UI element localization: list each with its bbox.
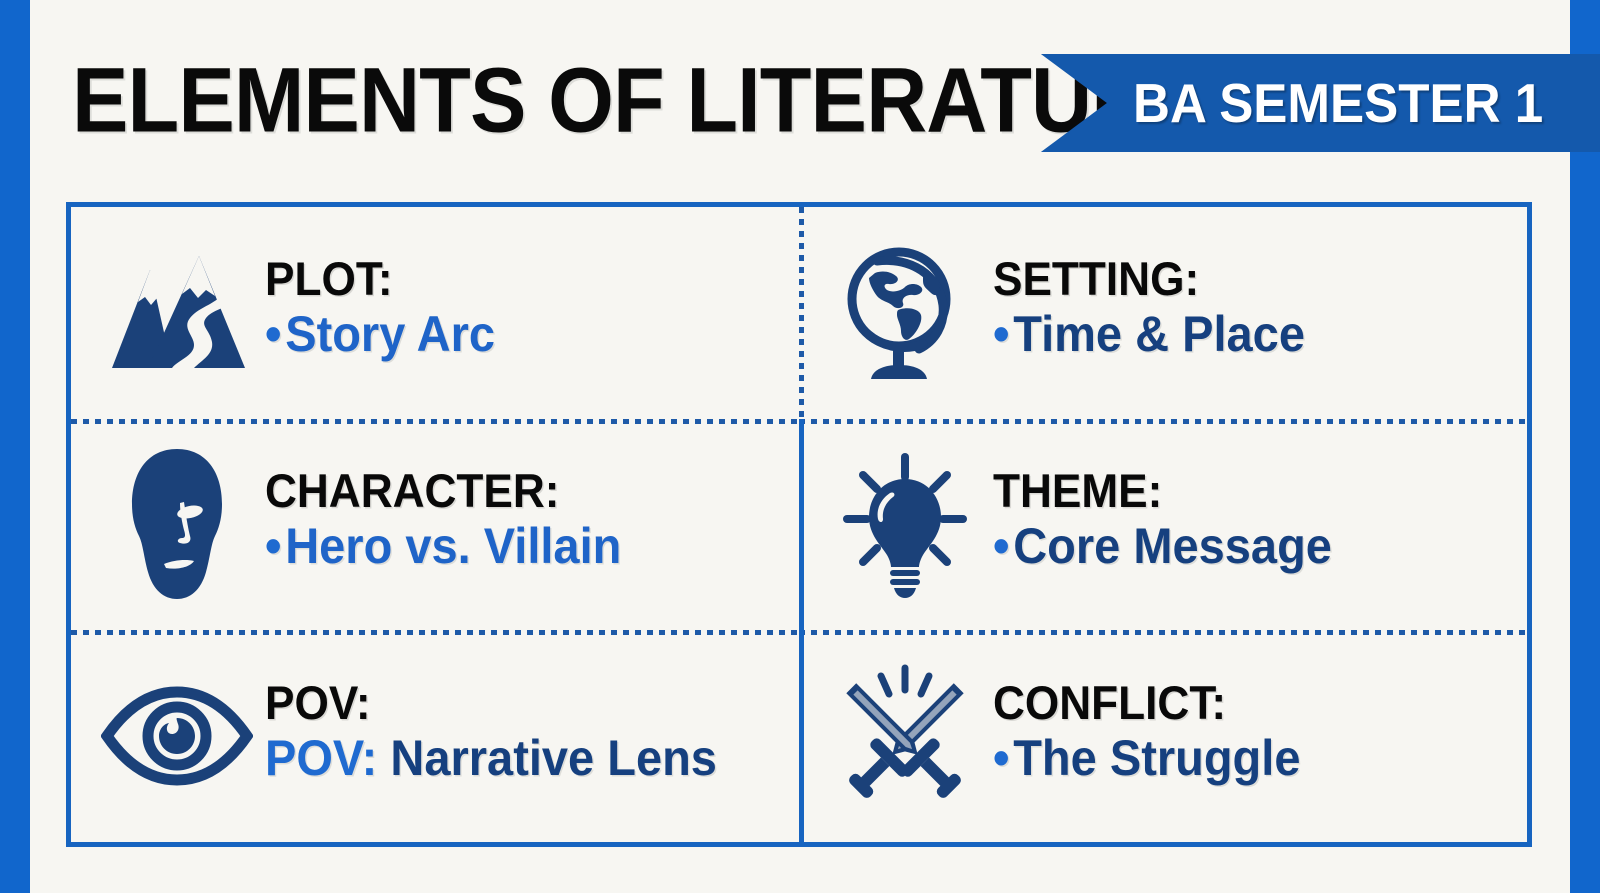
- elements-grid: PLOT: •Story Arc SETTING: •Time & Place: [66, 202, 1532, 847]
- mountains-icon: [97, 238, 257, 388]
- cell-detail-pov: POV: Narrative Lens: [265, 729, 717, 788]
- cell-heading-plot: PLOT:: [265, 255, 495, 303]
- cell-detail-plot: •Story Arc: [265, 305, 495, 364]
- cell-heading-theme: THEME:: [993, 467, 1332, 515]
- grid-cell-character[interactable]: CHARACTER: •Hero vs. Villain: [71, 419, 799, 631]
- cell-detail-text-theme: Core Message: [1013, 518, 1332, 574]
- cell-heading-conflict: CONFLICT:: [993, 679, 1300, 727]
- cell-heading-pov: POV:: [265, 679, 717, 727]
- cell-detail-text-setting: Time & Place: [1013, 306, 1305, 362]
- cell-text-character: CHARACTER: •Hero vs. Villain: [257, 467, 644, 582]
- cell-text-setting: SETTING: •Time & Place: [985, 255, 1325, 370]
- cell-detail-theme: •Core Message: [993, 517, 1332, 576]
- crossed-swords-icon: [825, 661, 985, 811]
- grid-cell-theme[interactable]: THEME: •Core Message: [799, 419, 1527, 631]
- cell-detail-prefix-pov: POV:: [265, 730, 377, 786]
- cell-detail-text-conflict: The Struggle: [1013, 730, 1300, 786]
- page-title: ELEMENTS OF LITERATURE: [72, 58, 1207, 145]
- grid-cell-conflict[interactable]: CONFLICT: •The Struggle: [799, 630, 1527, 842]
- face-icon: [97, 449, 257, 599]
- bullet-icon-plot: •: [265, 306, 281, 362]
- grid-cell-setting[interactable]: SETTING: •Time & Place: [799, 207, 1527, 419]
- bullet-icon-setting: •: [993, 306, 1009, 362]
- cell-detail-text-pov: Narrative Lens: [390, 730, 717, 786]
- cell-text-conflict: CONFLICT: •The Struggle: [985, 679, 1320, 794]
- semester-banner-label: BA SEMESTER 1: [1133, 71, 1543, 135]
- cell-heading-character: CHARACTER:: [265, 467, 621, 515]
- eye-icon: [97, 661, 257, 811]
- cell-detail-text-character: Hero vs. Villain: [285, 518, 621, 574]
- cell-heading-setting: SETTING:: [993, 255, 1305, 303]
- cell-detail-character: •Hero vs. Villain: [265, 517, 621, 576]
- lightbulb-icon: [825, 449, 985, 599]
- bullet-icon-conflict: •: [993, 730, 1009, 786]
- cell-text-plot: PLOT: •Story Arc: [257, 255, 510, 370]
- semester-banner: BA SEMESTER 1: [1041, 54, 1600, 152]
- bullet-icon-theme: •: [993, 518, 1009, 574]
- cell-detail-setting: •Time & Place: [993, 305, 1305, 364]
- grid-cell-pov[interactable]: POV: POV: Narrative Lens: [71, 630, 799, 842]
- cell-text-pov: POV: POV: Narrative Lens: [257, 679, 746, 794]
- cell-detail-text-plot: Story Arc: [285, 306, 495, 362]
- bullet-icon-character: •: [265, 518, 281, 574]
- cell-detail-conflict: •The Struggle: [993, 729, 1300, 788]
- grid-cell-plot[interactable]: PLOT: •Story Arc: [71, 207, 799, 419]
- cell-text-theme: THEME: •Core Message: [985, 467, 1354, 582]
- globe-icon: [825, 238, 985, 388]
- header: ELEMENTS OF LITERATURE BA SEMESTER 1: [0, 48, 1600, 158]
